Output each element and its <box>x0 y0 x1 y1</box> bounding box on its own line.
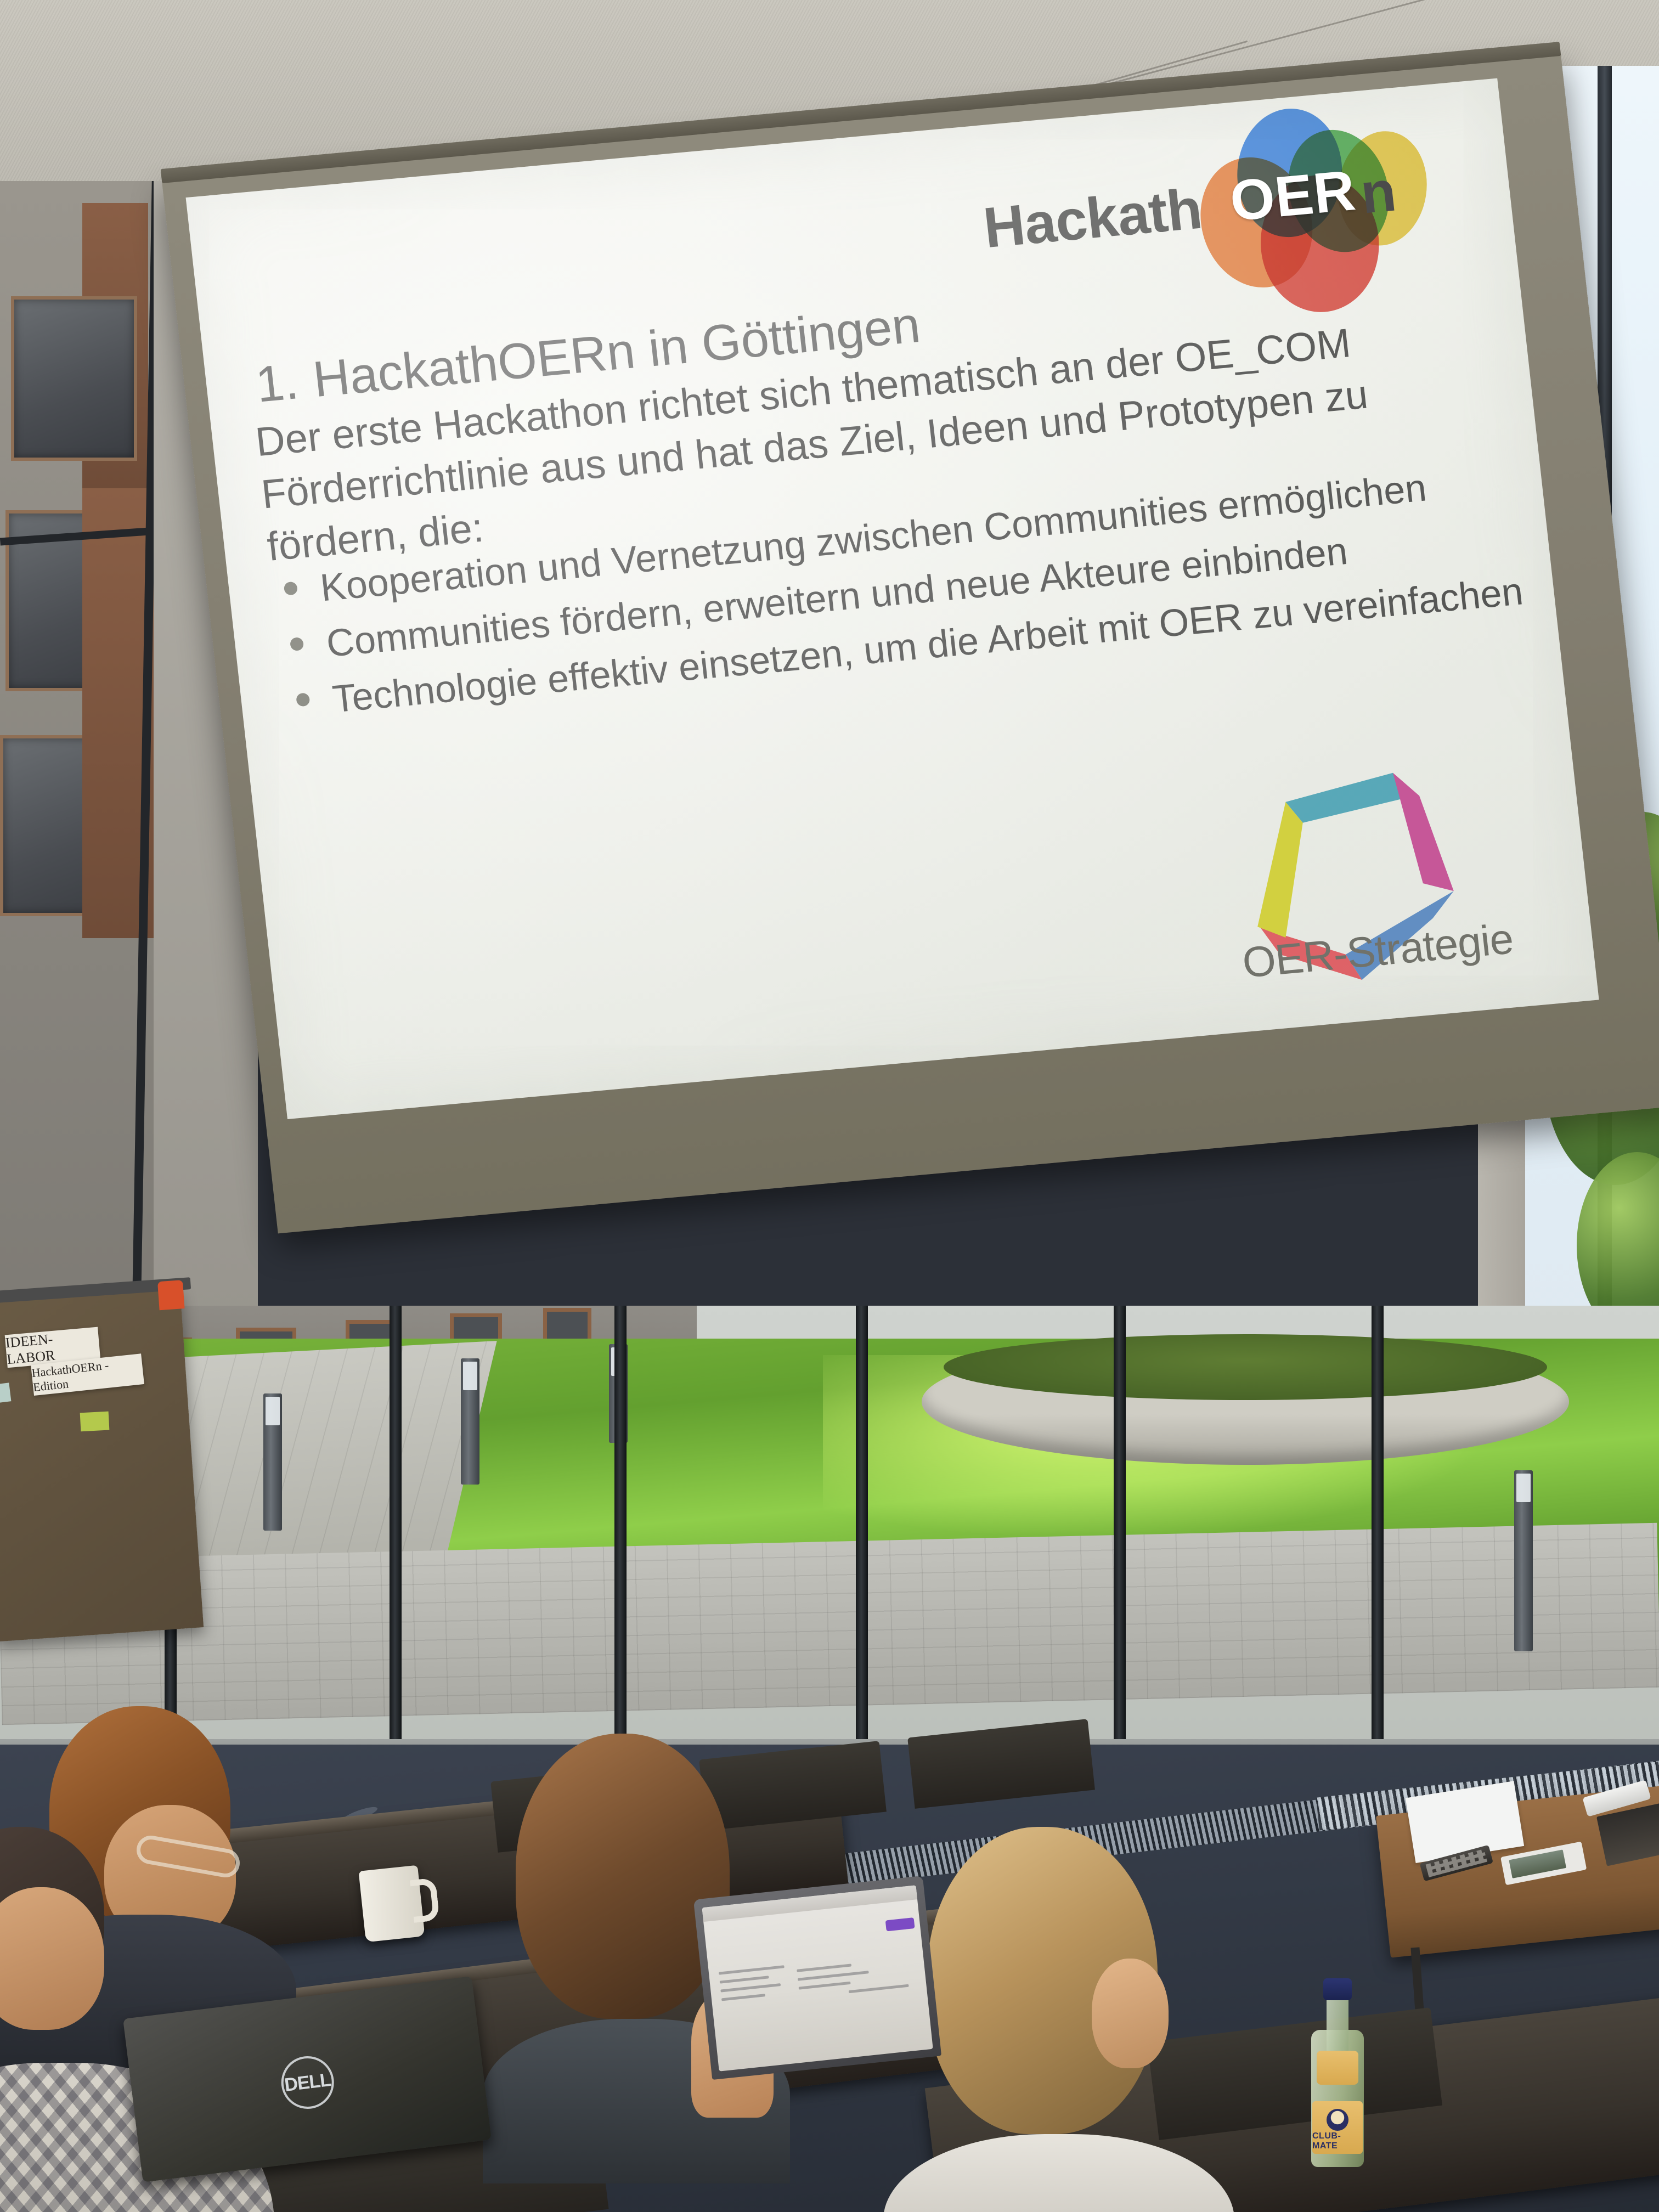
screen-accent-badge <box>885 1917 915 1931</box>
logo-text-highlight: OER <box>1227 158 1359 234</box>
screen-text-line <box>849 1984 909 1993</box>
oer-strategie-logo: OER-Strategie <box>1184 718 1518 996</box>
head-hair <box>516 1734 730 2019</box>
laptop-screen <box>702 1885 933 2071</box>
lecture-hall-photo: Hackath OER n 1.HackathOERn in Göttingen… <box>0 0 1659 2212</box>
projection-screen: Hackath OER n 1.HackathOERn in Göttingen… <box>162 54 1659 1233</box>
coffee-mug <box>359 1865 425 1943</box>
bottle-neck-label <box>1317 2051 1358 2085</box>
logo-text-suffix: n <box>1357 159 1399 227</box>
screen-text-line <box>798 1971 869 1981</box>
bollard-light <box>1514 1470 1533 1651</box>
bottle-neck <box>1327 1995 1348 2055</box>
bottle-cap <box>1323 1978 1352 2000</box>
window-mullion <box>390 1306 402 1799</box>
hackathoern-logo: Hackath OER n <box>973 89 1485 314</box>
planter-plants <box>944 1334 1547 1400</box>
screen-text-line <box>797 1963 851 1972</box>
dell-logo: DELL <box>278 2053 337 2112</box>
screen-text-line <box>721 1994 765 2001</box>
ear <box>1092 1959 1169 2068</box>
bottle-label: CLUB-MATE <box>1312 2101 1363 2154</box>
sticky-note <box>80 1412 110 1432</box>
screen-text-line <box>720 1976 769 1983</box>
atrium-window <box>11 296 137 461</box>
pinboard-corner-cap <box>157 1280 185 1310</box>
sticky-note <box>0 1383 11 1404</box>
bollard-light <box>461 1358 479 1485</box>
club-mate-bottle: CLUB-MATE <box>1311 1970 1364 2167</box>
laptop-lid <box>693 1876 941 2080</box>
logo-text-prefix: Hackath <box>980 177 1205 261</box>
courtyard-window-band <box>0 1306 1659 1799</box>
pinboard: IDEEN-LABOR HackathOERn - Edition <box>0 1288 204 1642</box>
bollard-light <box>263 1393 282 1531</box>
macbook-laptop <box>693 1876 941 2080</box>
presenter-table <box>1376 1784 1659 1957</box>
screen-text-line <box>799 1982 851 1990</box>
window-mullion <box>1114 1306 1126 1799</box>
window-mullion <box>1372 1306 1384 1799</box>
presentation-slide: Hackath OER n 1.HackathOERn in Göttingen… <box>186 78 1599 1119</box>
screen-text-line <box>719 1965 785 1975</box>
av-control-panel <box>1500 1842 1587 1886</box>
window-mullion <box>614 1306 627 1799</box>
window-mullion <box>856 1306 868 1799</box>
screen-text-line <box>720 1983 781 1992</box>
slide-title-number: 1. <box>253 353 301 413</box>
